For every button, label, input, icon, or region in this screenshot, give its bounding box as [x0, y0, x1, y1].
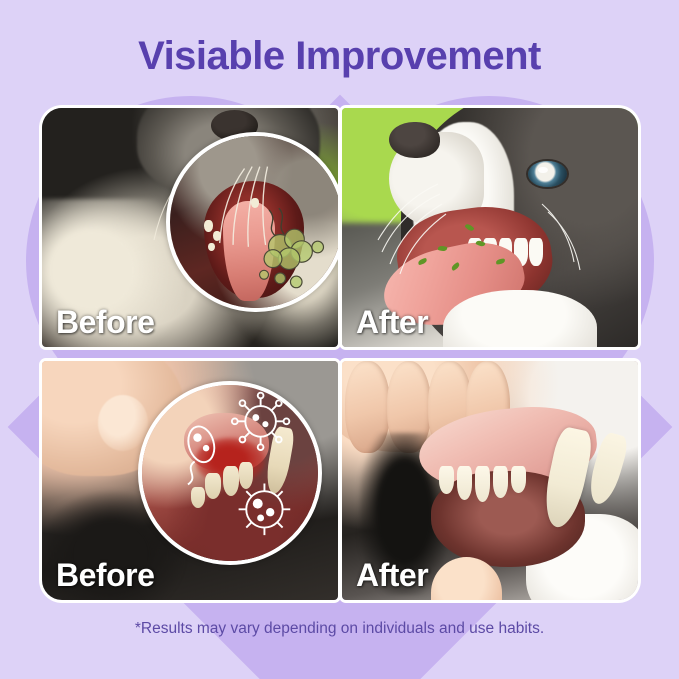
panel-after-gums: After — [342, 361, 638, 600]
magnifier-circle-before-breath — [166, 132, 338, 312]
mint-leaf-icon — [475, 240, 485, 248]
clean-teeth-row — [437, 466, 538, 514]
panel-label-after: After — [356, 304, 428, 341]
clean-tooth — [511, 466, 526, 493]
disclaimer-footnote: *Results may vary depending on individua… — [0, 620, 679, 638]
bacteria-group — [142, 385, 318, 561]
magnified-mouth — [170, 136, 338, 308]
bacteria-icon — [184, 423, 218, 484]
page-title: Visiable Improvement — [0, 34, 679, 79]
panel-after-breath: After — [342, 108, 638, 347]
infographic-canvas: Visiable Improvement — [0, 0, 679, 679]
magnified-gums — [142, 385, 318, 561]
panel-label-after: After — [356, 557, 428, 594]
panel-label-before: Before — [56, 557, 154, 594]
clean-tooth — [493, 466, 508, 498]
panel-label-before: Before — [56, 304, 154, 341]
mint-leaf-icon — [464, 223, 474, 233]
mint-leaf-icon — [451, 262, 461, 271]
mint-leaf-icon — [417, 257, 427, 265]
panel-before-breath: Before — [42, 108, 338, 347]
mint-leaf-icon — [496, 258, 506, 264]
panel-before-gums: Before — [42, 361, 338, 600]
mint-leaf-group — [413, 223, 525, 285]
clean-tooth — [457, 466, 472, 499]
before-after-grid: Before — [42, 108, 638, 600]
mint-leaf-icon — [437, 245, 447, 252]
bacteria-icon — [232, 393, 289, 450]
clean-tooth — [475, 466, 490, 502]
stink-cloud-icon — [239, 205, 328, 294]
magnifier-circle-before-gums — [138, 381, 322, 565]
clean-tooth — [439, 466, 454, 494]
bacteria-icon — [239, 484, 291, 536]
